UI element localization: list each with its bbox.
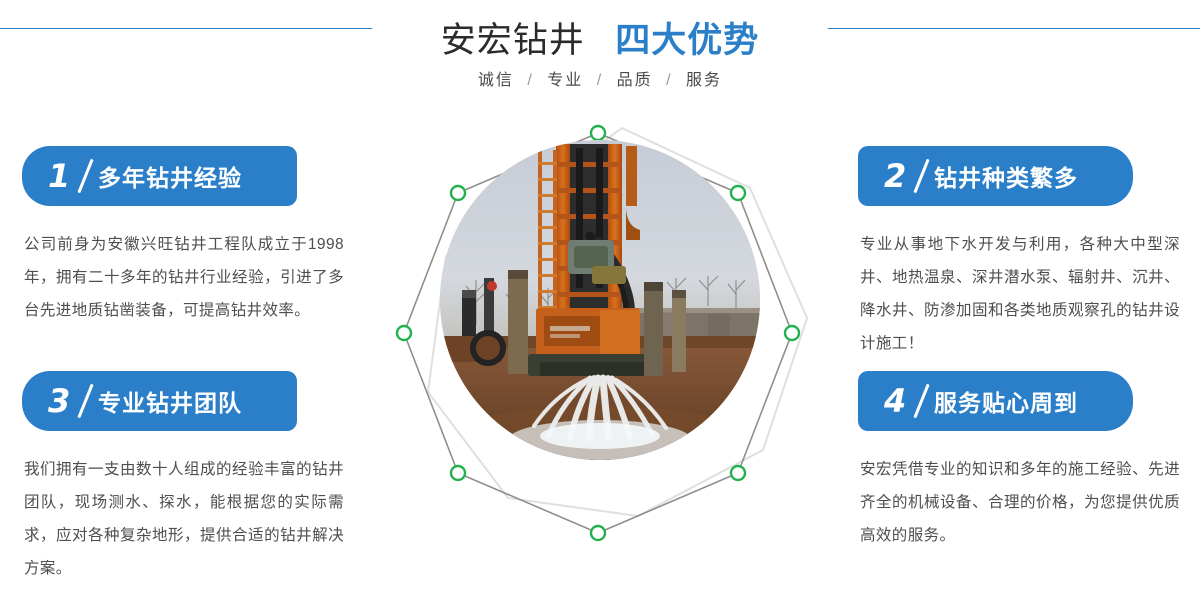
advantage-card-1-title: 多年钻井经验 [98,159,242,193]
advantage-card-2-title: 钻井种类繁多 [934,159,1078,193]
drilling-rig-illustration [440,140,760,460]
page-header: 安宏钻井 四大优势 诚信 / 专业 / 品质 / 服务 [0,0,1200,110]
advantage-card-1-number: 1 [48,154,70,198]
advantage-card-3: 3 专业钻井团队 我们拥有一支由数十人组成的经验丰富的钻井团队，现场测水、探水，… [0,371,360,585]
advantage-card-1: 1 多年钻井经验 公司前身为安徽兴旺钻井工程队成立于1998年，拥有二十多年的钻… [0,146,360,327]
vertex-marker-icon [397,326,411,340]
vertex-marker-icon [591,526,605,540]
number-3-icon: 3 [48,379,88,423]
advantage-card-2-number: 2 [884,154,906,198]
subtitle-item-3: 服务 [686,72,722,89]
advantage-card-4-body: 安宏凭借专业的知识和多年的施工经验、先进齐全的机械设备、合理的价格，为您提供优质… [860,453,1180,552]
number-1-icon: 1 [48,154,88,198]
center-graphic [370,110,830,570]
advantage-card-2: 2 钻井种类繁多 专业从事地下水开发与利用，各种大中型深井、地热温泉、深井潜水泵… [840,146,1200,360]
vertex-marker-icon [451,186,465,200]
advantage-card-1-body: 公司前身为安徽兴旺钻井工程队成立于1998年，拥有二十多年的钻井行业经验，引进了… [24,228,344,327]
number-4-icon: 4 [884,379,924,423]
vertex-marker-icon [785,326,799,340]
title-main-text: 安宏钻井 [441,21,585,60]
page-title: 安宏钻井 四大优势 [0,12,1200,63]
advantage-card-2-body: 专业从事地下水开发与利用，各种大中型深井、地热温泉、深井潜水泵、辐射井、沉井、降… [860,228,1180,360]
drilling-rig-photo [440,140,760,460]
advantage-card-4: 4 服务贴心周到 安宏凭借专业的知识和多年的施工经验、先进齐全的机械设备、合理的… [840,371,1200,552]
advantage-card-3-number: 3 [48,379,70,423]
subtitle-separator-1: / [597,72,603,89]
page-subtitle: 诚信 / 专业 / 品质 / 服务 [0,66,1200,90]
number-2-icon: 2 [884,154,924,198]
subtitle-item-0: 诚信 [478,72,514,89]
vertex-marker-icon [451,466,465,480]
vertex-marker-icon [591,126,605,140]
advantage-card-4-title: 服务贴心周到 [934,384,1078,418]
advantage-card-4-number: 4 [884,379,906,423]
number-slash-icon [913,159,929,194]
advantage-card-3-title: 专业钻井团队 [98,384,242,418]
subtitle-item-1: 专业 [547,72,583,89]
advantage-card-1-header: 1 多年钻井经验 [22,146,297,206]
advantage-card-3-body: 我们拥有一支由数十人组成的经验丰富的钻井团队，现场测水、探水，能根据您的实际需求… [24,453,344,585]
page-root: 安宏钻井 四大优势 诚信 / 专业 / 品质 / 服务 1 多年钻井经验 公司前… [0,0,1200,600]
advantage-card-3-header: 3 专业钻井团队 [22,371,297,431]
advantage-card-4-header: 4 服务贴心周到 [858,371,1133,431]
advantage-card-2-header: 2 钻井种类繁多 [858,146,1133,206]
vertex-marker-icon [731,466,745,480]
title-accent-text: 四大优势 [615,21,759,60]
subtitle-separator-2: / [666,72,672,89]
number-slash-icon [77,159,93,194]
subtitle-item-2: 品质 [617,72,653,89]
subtitle-separator-0: / [527,72,533,89]
number-slash-icon [77,384,93,419]
number-slash-icon [913,384,929,419]
vertex-marker-icon [731,186,745,200]
